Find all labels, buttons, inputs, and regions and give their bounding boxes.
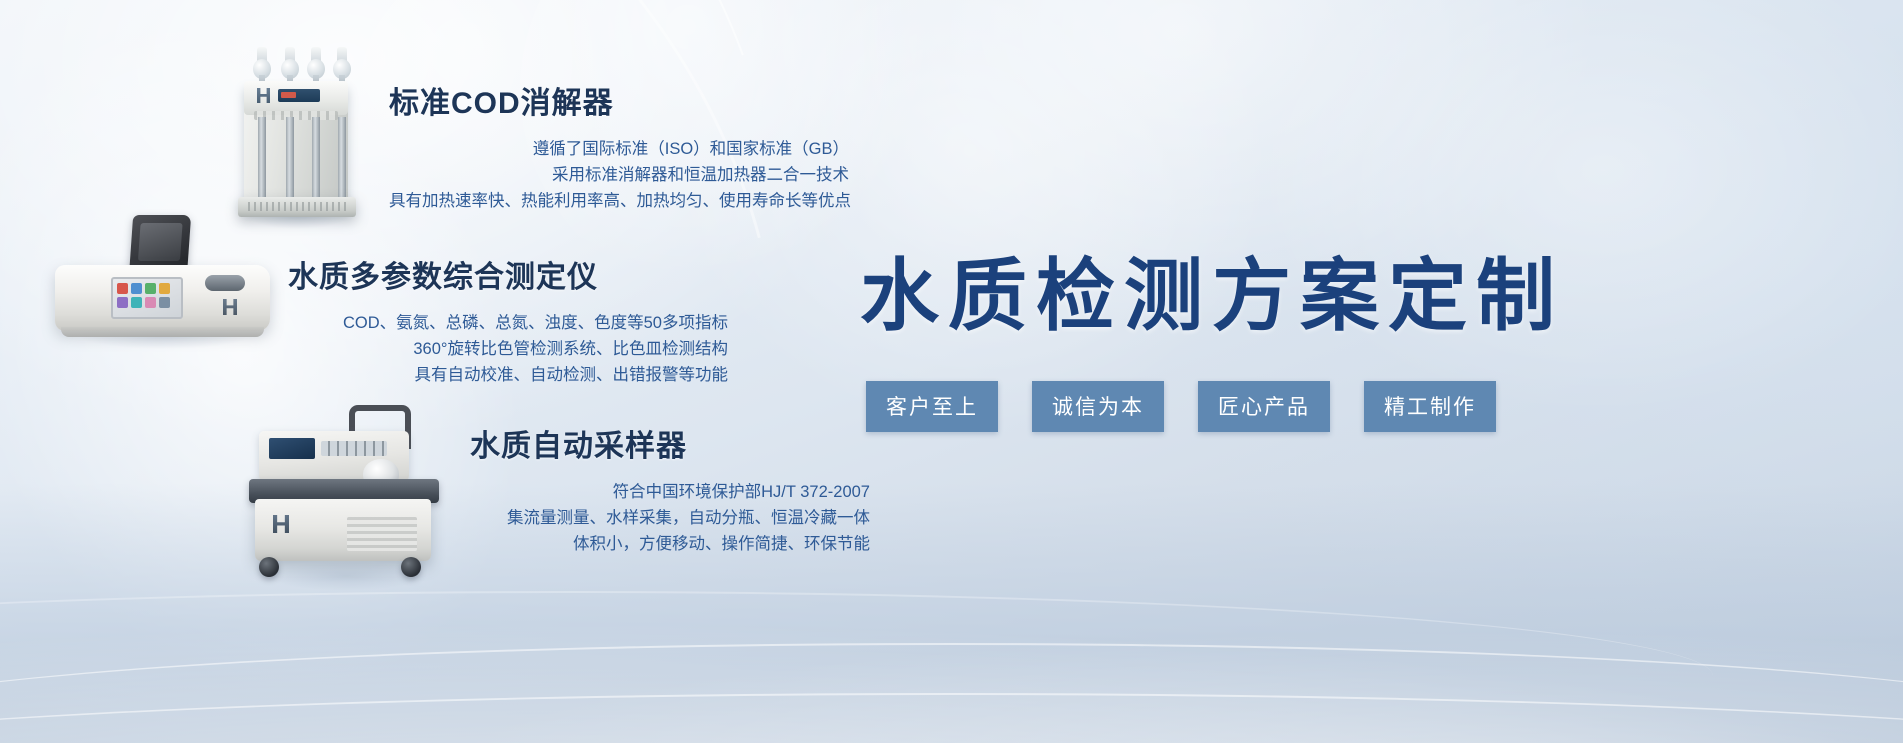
badge-fine-workmanship[interactable]: 精工制作 [1364, 381, 1496, 432]
product-description-line: 符合中国环境保护部HJ/T 372-2007 [470, 479, 870, 505]
product-description: 符合中国环境保护部HJ/T 372-2007 集流量测量、水样采集，自动分瓶、恒… [470, 479, 870, 557]
product-description-line: COD、氨氮、总磷、总氮、浊度、色度等50多项指标 [288, 310, 728, 336]
product-description: COD、氨氮、总磷、总氮、浊度、色度等50多项指标 360°旋转比色管检测系统、… [288, 310, 728, 388]
product-description-line: 体积小，方便移动、操作简捷、环保节能 [470, 531, 870, 557]
product-block-cod-digester: 标准COD消解器 遵循了国际标准（ISO）和国家标准（GB） 采用标准消解器和恒… [389, 78, 849, 214]
product-description-line: 具有自动校准、自动检测、出错报警等功能 [288, 362, 728, 388]
page-title: 水质检测方案定制 [860, 231, 1564, 346]
analyzer-cuvette-well [205, 275, 245, 291]
badge-integrity-based[interactable]: 诚信为本 [1032, 381, 1164, 432]
sampler-vent [347, 517, 417, 551]
analyzer-foot [61, 327, 264, 337]
product-description: 遵循了国际标准（ISO）和国家标准（GB） 采用标准消解器和恒温加热器二合一技术… [389, 136, 849, 214]
analyzer-touchscreen [111, 277, 183, 319]
wave-line-3 [0, 591, 1713, 743]
product-title: 水质多参数综合测定仪 [288, 252, 728, 296]
wave-line-2 [0, 693, 1903, 743]
product-title: 标准COD消解器 [389, 78, 849, 122]
digester-control-panel [278, 89, 320, 102]
product-description-line: 遵循了国际标准（ISO）和国家标准（GB） [389, 136, 849, 162]
product-description-line: 具有加热速率快、热能利用率高、加热均匀、使用寿命长等优点 [389, 188, 849, 214]
badge-customer-first[interactable]: 客户至上 [866, 381, 998, 432]
sampler-display [269, 438, 315, 459]
sampler-caster [401, 557, 421, 577]
sampler-keypad [321, 441, 387, 456]
product-description-line: 集流量测量、水样采集，自动分瓶、恒温冷藏一体 [470, 505, 870, 531]
water-quality-banner: 标准COD消解器 遵循了国际标准（ISO）和国家标准（GB） 采用标准消解器和恒… [0, 0, 1903, 743]
product-title: 水质自动采样器 [470, 421, 870, 465]
wave-line-1 [0, 643, 1903, 743]
product-description-line: 采用标准消解器和恒温加热器二合一技术 [389, 162, 849, 188]
digester-rod [312, 117, 320, 197]
multi-parameter-analyzer-photo [55, 215, 270, 340]
digester-base [238, 197, 356, 217]
product-description-line: 360°旋转比色管检测系统、比色皿检测结构 [288, 336, 728, 362]
digester-rod [286, 117, 294, 197]
product-block-auto-sampler: 水质自动采样器 符合中国环境保护部HJ/T 372-2007 集流量测量、水样采… [470, 421, 870, 557]
digester-rod [258, 117, 266, 197]
value-badges: 客户至上 诚信为本 匠心产品 精工制作 [866, 381, 1496, 432]
cod-digester-photo [238, 47, 356, 214]
badge-craftsmanship[interactable]: 匠心产品 [1198, 381, 1330, 432]
sampler-caster [259, 557, 279, 577]
auto-water-sampler-photo [243, 405, 448, 580]
digester-rod [338, 117, 346, 197]
product-block-multi-parameter-analyzer: 水质多参数综合测定仪 COD、氨氮、总磷、总氮、浊度、色度等50多项指标 360… [288, 252, 728, 388]
digester-slots [254, 111, 338, 120]
